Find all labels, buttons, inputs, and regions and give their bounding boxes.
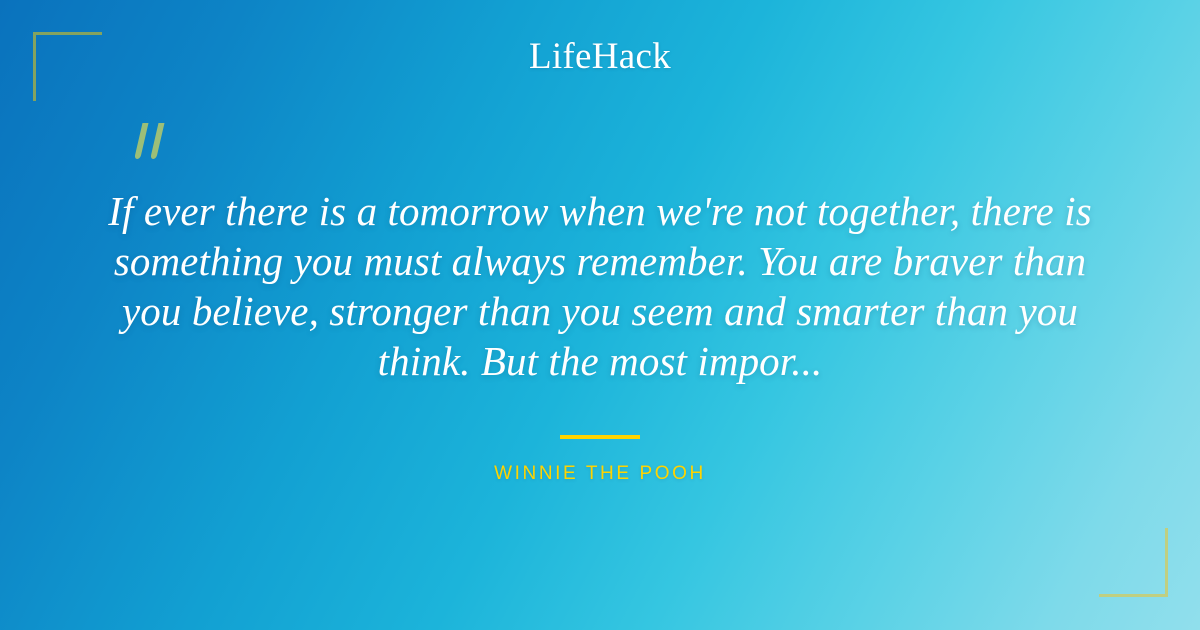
quote-text: If ever there is a tomorrow when we're n… (80, 186, 1120, 386)
double-quote-icon (128, 121, 174, 169)
quote-card: LifeHack If ever there is a tomorrow whe… (0, 0, 1200, 630)
brand-logo: LifeHack (0, 38, 1200, 75)
divider-bar (560, 435, 640, 439)
attribution-divider (0, 435, 1200, 439)
corner-bracket-bottom-right (1099, 528, 1168, 597)
quote-block: If ever there is a tomorrow when we're n… (80, 186, 1120, 386)
quote-author: WINNIE THE POOH (0, 463, 1200, 485)
